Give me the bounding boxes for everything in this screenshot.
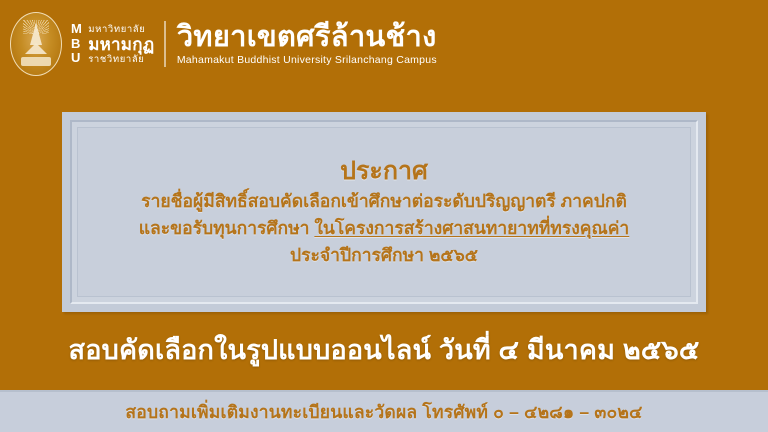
emblem-base-icon	[21, 57, 51, 66]
emblem-tier-icon	[25, 43, 47, 54]
campus-name-english: Mahamakut Buddhist University Srilanchan…	[177, 54, 437, 67]
emblem-spire-icon	[30, 23, 42, 45]
mbu-initials: M B U	[71, 22, 82, 66]
announcement-line-2: และขอรับทุนการศึกษา ในโครงการสร้างศาสนทา…	[139, 215, 630, 242]
campus-name-thai: วิทยาเขตศรีล้านช้าง	[177, 21, 437, 53]
mbu-letter-u: U	[71, 51, 82, 66]
brand-header: M B U มหาวิทยาลัย มหามกุฏ ราชวิทยาลัย วิ…	[0, 0, 768, 88]
university-line-bottom: ราชวิทยาลัย	[88, 54, 154, 65]
mbu-crown-emblem-icon	[10, 12, 62, 76]
announcement-frame: ประกาศ รายชื่อผู้มีสิทธิ์สอบคัดเลือกเข้า…	[62, 112, 706, 312]
announcement-line-3: ประจำปีการศึกษา ๒๕๖๕	[290, 242, 478, 269]
mbu-letter-b: B	[71, 37, 82, 52]
university-line-main: มหามกุฏ	[88, 35, 154, 54]
university-name-thai: มหาวิทยาลัย มหามกุฏ ราชวิทยาลัย	[88, 24, 154, 65]
announcement-line-2-underlined: ในโครงการสร้างศาสนทายาทที่ทรงคุณค่า	[314, 218, 629, 238]
exam-headline: สอบคัดเลือกในรูปแบบออนไลน์ วันที่ ๔ มีนา…	[0, 330, 768, 370]
header-divider	[164, 21, 166, 67]
university-line-top: มหาวิทยาลัย	[88, 24, 154, 35]
contact-footer-text: สอบถามเพิ่มเติมงานทะเบียนและวัดผล โทรศัพ…	[125, 401, 642, 423]
contact-footer: สอบถามเพิ่มเติมงานทะเบียนและวัดผล โทรศัพ…	[0, 390, 768, 432]
announcement-title: ประกาศ	[340, 156, 428, 186]
announcement-frame-inner-bevel: ประกาศ รายชื่อผู้มีสิทธิ์สอบคัดเลือกเข้า…	[70, 120, 698, 304]
announcement-panel: ประกาศ รายชื่อผู้มีสิทธิ์สอบคัดเลือกเข้า…	[77, 127, 691, 297]
announcement-line-1: รายชื่อผู้มีสิทธิ์สอบคัดเลือกเข้าศึกษาต่…	[141, 188, 627, 215]
campus-name-block: วิทยาเขตศรีล้านช้าง Mahamakut Buddhist U…	[177, 21, 437, 67]
mbu-letter-m: M	[71, 22, 82, 37]
announcement-line-2-plain: และขอรับทุนการศึกษา	[139, 218, 310, 238]
announcement-poster: M B U มหาวิทยาลัย มหามกุฏ ราชวิทยาลัย วิ…	[0, 0, 768, 432]
